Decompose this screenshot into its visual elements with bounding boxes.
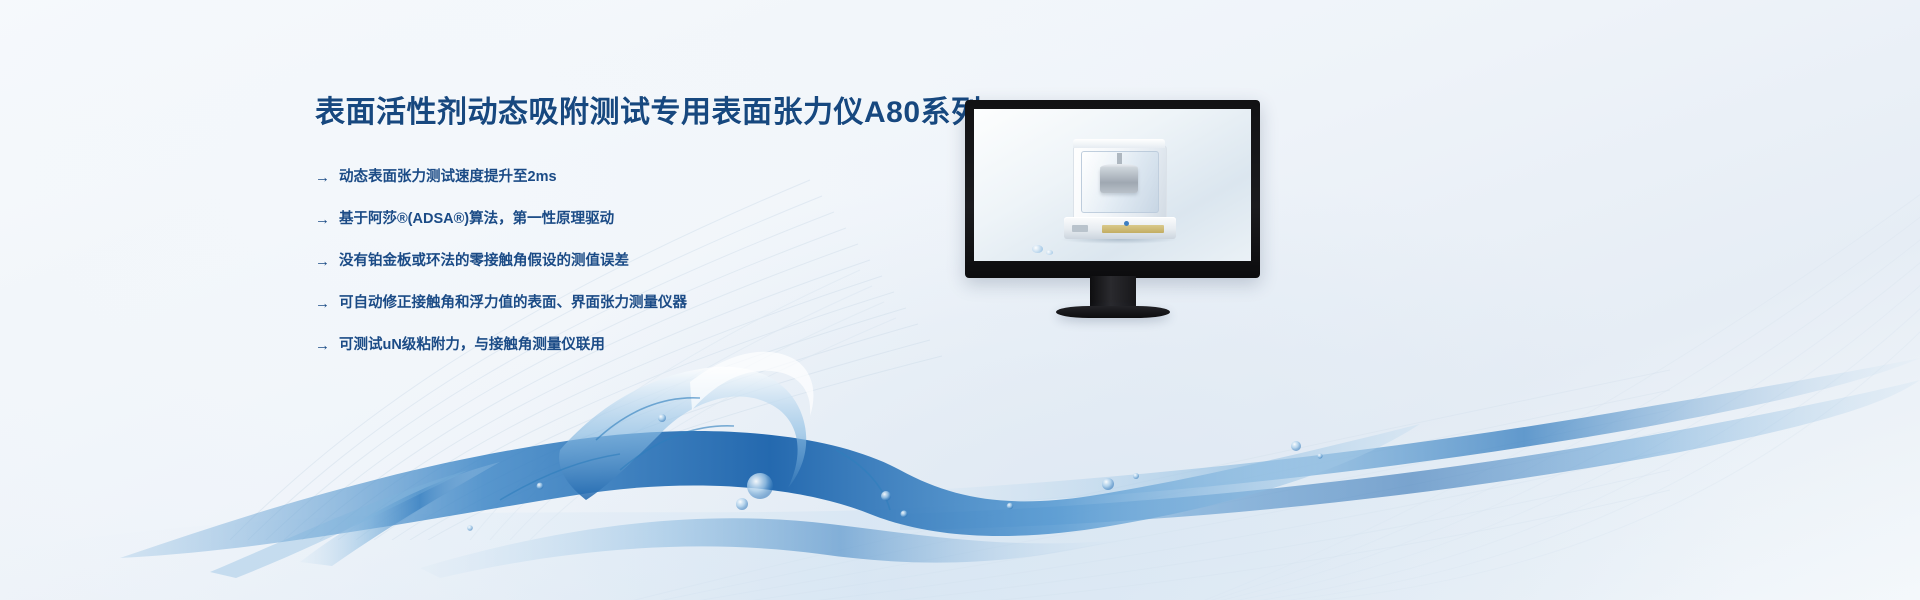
water-droplet-icon [1046, 250, 1053, 255]
list-item-label: 动态表面张力测试速度提升至2ms [339, 169, 557, 186]
instrument-sample-pan [1100, 167, 1138, 193]
instrument-top-cover [1073, 139, 1165, 148]
feature-list: → 动态表面张力测试速度提升至2ms → 基于阿莎®(ADSA®)算法，第一性原… [315, 169, 965, 355]
list-item: → 动态表面张力测试速度提升至2ms [315, 169, 965, 187]
radiating-lines-decoration-right [1180, 70, 1920, 600]
product-monitor-image [965, 100, 1260, 325]
list-item: → 基于阿莎®(ADSA®)算法，第一性原理驱动 [315, 211, 965, 229]
arrow-icon: → [315, 253, 330, 271]
list-item-label: 可自动修正接触角和浮力值的表面、界面张力测量仪器 [339, 295, 687, 312]
instrument-indicator-icon [1124, 221, 1129, 226]
arrow-icon: → [315, 211, 330, 229]
monitor-screen [974, 109, 1251, 261]
arrow-icon: → [315, 169, 330, 187]
arrow-icon: → [315, 295, 330, 313]
instrument-button [1072, 225, 1088, 232]
page-title: 表面活性剂动态吸附测试专用表面张力仪A80系列 [315, 96, 965, 131]
arrow-icon: → [315, 337, 330, 355]
list-item-label: 基于阿莎®(ADSA®)算法，第一性原理驱动 [339, 211, 614, 228]
monitor-stand-neck [1090, 276, 1136, 309]
product-hero-banner: 表面活性剂动态吸附测试专用表面张力仪A80系列 → 动态表面张力测试速度提升至2… [0, 0, 1920, 600]
list-item-label: 可测试uN级粘附力，与接触角测量仪联用 [339, 337, 605, 354]
list-item-label: 没有铂金板或环法的零接触角假设的测值误差 [339, 253, 629, 270]
instrument-display [1102, 225, 1164, 233]
water-droplet-icon [1032, 245, 1043, 253]
monitor-stand-base [1056, 306, 1170, 318]
list-item: → 可测试uN级粘附力，与接触角测量仪联用 [315, 337, 965, 355]
list-item: → 没有铂金板或环法的零接触角假设的测值误差 [315, 253, 965, 271]
list-item: → 可自动修正接触角和浮力值的表面、界面张力测量仪器 [315, 295, 965, 313]
hero-copy-block: 表面活性剂动态吸附测试专用表面张力仪A80系列 → 动态表面张力测试速度提升至2… [315, 96, 965, 379]
